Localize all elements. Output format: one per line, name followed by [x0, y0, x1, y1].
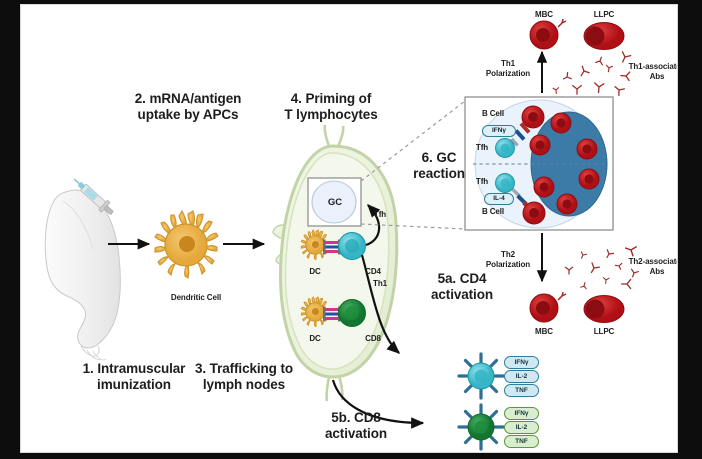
th1-associated-abs-label: Th1-associated Abs [617, 62, 678, 82]
activated-cd4-cell [459, 354, 503, 398]
cd8-cytokine-2: TNF [504, 435, 539, 448]
figure-root: 1. Intramuscular imunization 2. mRNA/ant… [0, 0, 702, 459]
lymph-node [273, 125, 397, 401]
mbc-top-label: MBC [519, 10, 569, 20]
gc-inset-tfh-top-label: Tfh [461, 143, 503, 153]
figure-panel: 1. Intramuscular imunization 2. mRNA/ant… [20, 4, 678, 453]
llpc-top-label: LLPC [579, 10, 629, 20]
llpc-bottom [584, 296, 624, 323]
mbc-bottom-label: MBC [519, 327, 569, 337]
cd4-cytokine-0: IFNγ [504, 356, 539, 369]
cd4-label: CD4 [351, 267, 395, 277]
dc2-label: DC [293, 334, 337, 344]
dc1-label: DC [293, 267, 337, 277]
gc-inset-bcell-bottom-label: B Cell [467, 207, 519, 217]
th1-polarization-label: Th1 Polarization [471, 59, 545, 79]
step-label-3: 3. Trafficking to lymph nodes [169, 361, 319, 394]
cd8-label: CD8 [351, 334, 395, 344]
th1-arrow-label: Th1 [365, 279, 395, 289]
cd4-cytokine-1: IL-2 [504, 370, 539, 383]
mhc-tcr-synapse-cd4 [323, 240, 341, 255]
cd8-cytokine-0: IFNγ [504, 407, 539, 420]
cd4-cytokine-2: TNF [504, 384, 539, 397]
step-label-5b: 5b. CD8 activation [301, 410, 411, 443]
step-label-5a: 5a. CD4 activation [407, 271, 517, 304]
th2-associated-abs-label: Th2-associated Abs [617, 257, 678, 277]
llpc-bottom-label: LLPC [579, 327, 629, 337]
gc-label: GC [309, 197, 361, 209]
dendritic-cell-label: Dendritic Cell [141, 293, 251, 303]
dendritic-cell [155, 211, 218, 278]
gc-inset-bcell-top-label: B Cell [467, 109, 519, 119]
llpc-top [584, 23, 624, 50]
mbc-bottom [530, 292, 566, 322]
th2-polarization-label: Th2 Polarization [471, 250, 545, 270]
gc-inset-cytokine-bottom: IL-4 [484, 193, 514, 205]
gc-inset-tfh-bottom-label: Tfh [461, 177, 503, 187]
cd8-cytokine-1: IL-2 [504, 421, 539, 434]
mbc-top [530, 19, 566, 49]
step-label-2: 2. mRNA/antigen uptake by APCs [113, 91, 263, 124]
gc-inset-cytokine-top: IFNγ [482, 125, 516, 137]
activated-cd8-cell [459, 405, 503, 449]
step-label-4: 4. Priming of T lymphocytes [261, 91, 401, 124]
arm-illustration [45, 190, 120, 360]
tfh-arrow-label: Tfh [365, 210, 395, 220]
mhc-tcr-synapse-cd8 [323, 307, 341, 322]
